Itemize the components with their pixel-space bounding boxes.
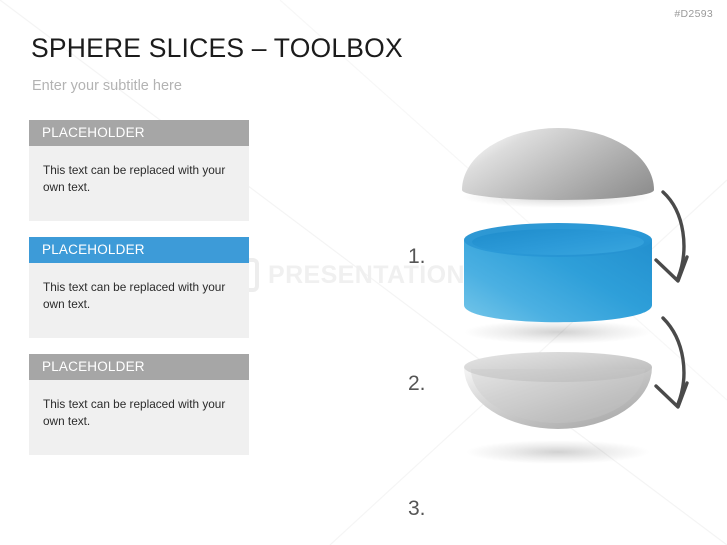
placeholder-box-3[interactable]: PLACEHOLDER This text can be replaced wi… xyxy=(29,354,249,455)
placeholder-box-2-header[interactable]: PLACEHOLDER xyxy=(29,237,249,263)
placeholder-box-1[interactable]: PLACEHOLDER This text can be replaced wi… xyxy=(29,120,249,221)
placeholder-box-1-body[interactable]: This text can be replaced with your own … xyxy=(29,146,249,221)
sphere-slices-diagram: 1. 2. 3. xyxy=(380,100,727,500)
page-subtitle[interactable]: Enter your subtitle here xyxy=(32,78,182,94)
sphere-slice-top-dome xyxy=(462,128,654,208)
arrow-step-1-to-2 xyxy=(656,192,687,281)
placeholder-box-3-header[interactable]: PLACEHOLDER xyxy=(29,354,249,380)
placeholder-box-1-header[interactable]: PLACEHOLDER xyxy=(29,120,249,146)
page-title: SPHERE SLICES – TOOLBOX xyxy=(31,33,403,64)
sphere-slice-middle-blue xyxy=(464,223,652,344)
placeholder-box-2-body[interactable]: This text can be replaced with your own … xyxy=(29,263,249,338)
arrow-step-2-to-3 xyxy=(656,318,687,407)
slide-canvas: #D2593 SPHERE SLICES – TOOLBOX Enter you… xyxy=(0,0,727,545)
step-number-3: 3. xyxy=(408,497,426,521)
placeholder-box-2[interactable]: PLACEHOLDER This text can be replaced wi… xyxy=(29,237,249,338)
sphere-slice-bottom-bowl xyxy=(464,352,652,464)
document-id: #D2593 xyxy=(674,8,713,20)
placeholder-box-3-body[interactable]: This text can be replaced with your own … xyxy=(29,380,249,455)
